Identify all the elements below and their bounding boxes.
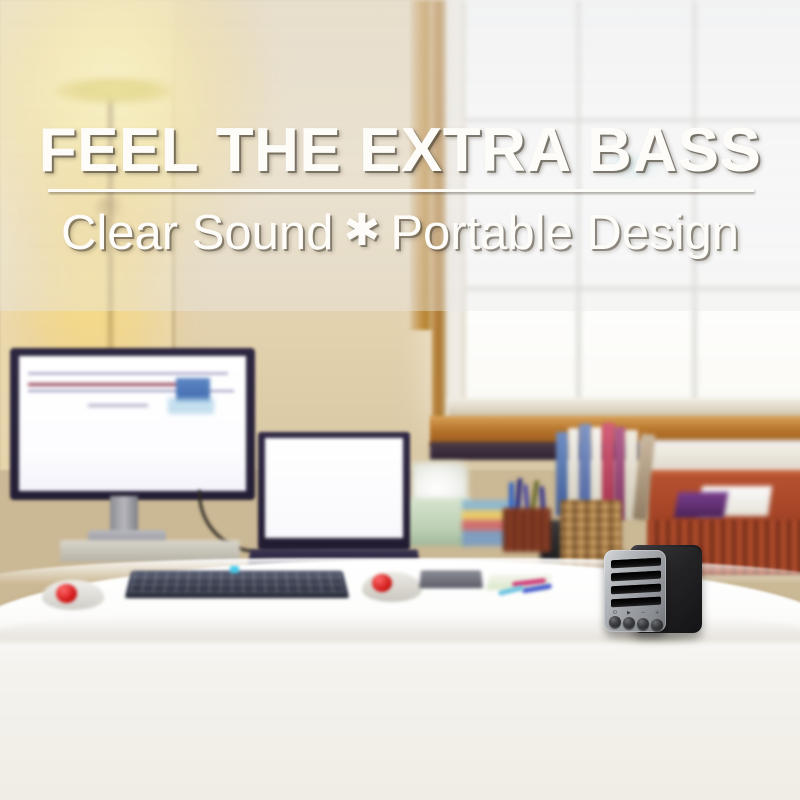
subtitle-right-text: Portable Design <box>390 206 739 260</box>
monitor-screen-line <box>28 372 228 375</box>
window-muntin-vertical <box>692 0 697 400</box>
volume-down-button[interactable] <box>637 618 649 630</box>
lamp-shade <box>55 78 173 104</box>
window-muntin-horizontal <box>460 286 800 291</box>
volume-up-icon: + <box>655 611 659 616</box>
tissue-box <box>408 498 470 546</box>
keyboard-keys <box>130 572 345 593</box>
headline-container: FEEL THE EXTRA BASS <box>0 118 800 184</box>
power-button[interactable] <box>609 616 621 628</box>
volume-down-icon: − <box>641 611 645 616</box>
monitor-screen-text <box>88 404 148 407</box>
monitor-screen <box>19 356 246 491</box>
asterisk-separator-icon: ✱ <box>333 206 390 255</box>
trackball-ball-left <box>56 584 77 603</box>
speaker-grille-slot <box>611 558 661 569</box>
monitor-screen-tile <box>168 398 214 414</box>
subtitle-container: Clear Sound✱Portable Design <box>0 204 800 264</box>
speaker-grille-slot <box>611 584 661 595</box>
volume-up-button[interactable] <box>651 619 663 631</box>
speaker-grille-slot <box>611 571 661 582</box>
trackball-mouse-right <box>362 572 422 602</box>
speaker-grille-slot <box>611 597 661 608</box>
window-muntin-vertical <box>576 0 581 400</box>
organizer-folder <box>674 492 729 518</box>
keyboard-led <box>230 566 239 573</box>
speaker-front-panel: ⏻ ▶ − + <box>604 550 666 632</box>
subtitle-left-text: Clear Sound <box>61 206 333 260</box>
subtitle-text: Clear Sound✱Portable Design <box>61 204 739 264</box>
laptop-screen <box>265 438 403 538</box>
headline-text: FEEL THE EXTRA BASS <box>33 118 768 184</box>
trackball-ball-right <box>372 574 392 592</box>
play-pause-button[interactable] <box>623 617 635 629</box>
bluetooth-speaker[interactable]: ⏻ ▶ − + <box>604 547 702 637</box>
promo-image: ⏻ ▶ − + FEEL THE EXTRA BASS Clear Sound✱… <box>0 0 800 800</box>
pen-cup <box>503 508 551 552</box>
play-icon: ▶ <box>627 611 631 616</box>
calculator <box>419 570 483 588</box>
headline-underline <box>48 189 754 192</box>
window-sill <box>448 398 800 418</box>
